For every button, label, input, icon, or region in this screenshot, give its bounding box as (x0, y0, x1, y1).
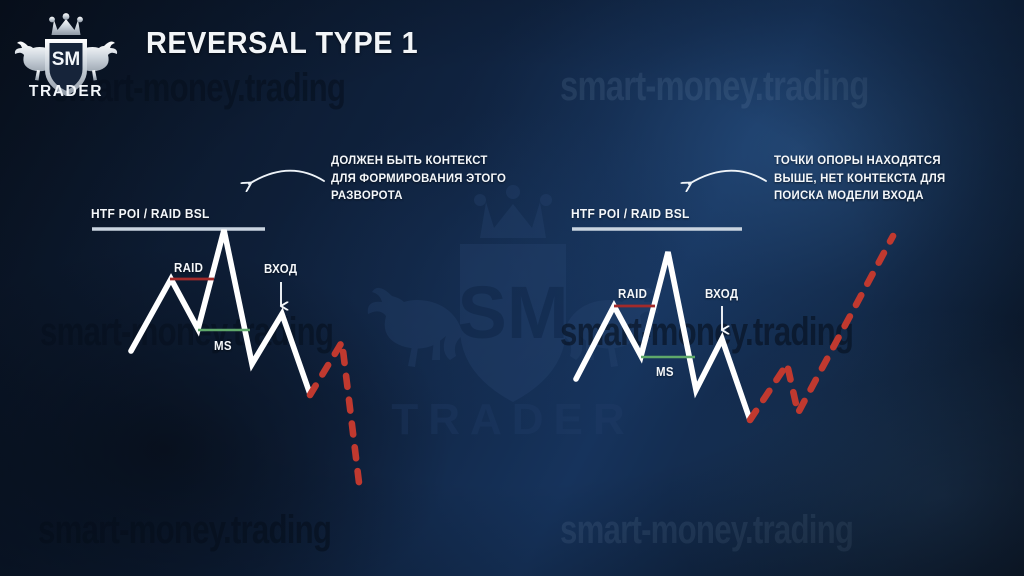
price-action-line (576, 252, 750, 420)
left-chart (92, 229, 360, 491)
forecast-dashed-path (310, 342, 360, 491)
curved-arrow-left-icon (689, 171, 766, 184)
price-action-line (131, 230, 310, 394)
chart-vector-layer (0, 0, 1024, 576)
right-chart (572, 229, 893, 420)
slide-canvas: SM TRADER smart-money.trading smart-mone… (0, 0, 1024, 576)
forecast-dashed-path (750, 236, 893, 420)
curved-arrow-left-icon (249, 171, 324, 184)
